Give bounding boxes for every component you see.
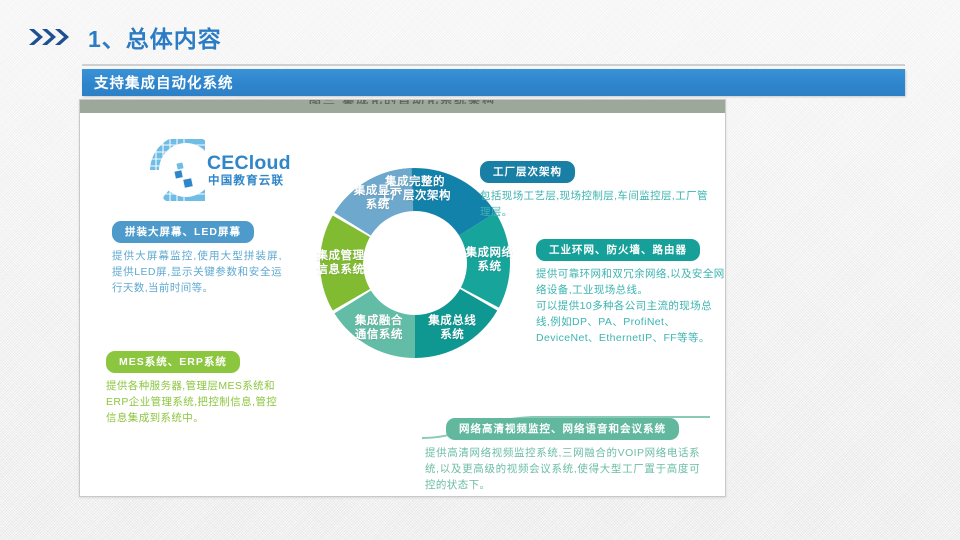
- callout-network-pill: 工业环网、防火墙、路由器: [536, 239, 700, 261]
- callout-video-body: 提供高清网络视频监控系统,三网融合的VOIP网络电话系统,以及更高级的视频会议系…: [425, 445, 700, 493]
- page-title: 1、总体内容: [28, 20, 222, 54]
- callout-network-body-1: 提供可靠环网和双冗余网络,以及安全网络设备,工业现场总线。: [536, 266, 726, 298]
- cecloud-logo: CECloud 中国教育云联: [115, 139, 290, 201]
- callout-network-body-2: 可以提供10多种各公司主流的现场总线,例如DP、PA、ProfiNet、Devi…: [536, 298, 726, 346]
- callout-display-body: 提供大屏幕监控,使用大型拼装屏,提供LED屏,显示关键参数和安全运行天数,当前时…: [112, 248, 282, 296]
- callout-video-pill: 网络高清视频监控、网络语音和会议系统: [446, 418, 679, 440]
- subtitle-bar-text: 支持集成自动化系统: [82, 72, 234, 93]
- figure-inner: CECloud 中国教育云联 集成完整的工厂层次架构集成网络系统集成总线系统集成…: [80, 113, 725, 496]
- callout-mes-erp: MES系统、ERP系统 提供各种服务器,管理层MES系统和ERP企业管理系统,把…: [106, 351, 284, 426]
- svg-text:CECloud: CECloud: [207, 152, 290, 174]
- callout-factory-pill: 工厂层次架构: [480, 161, 575, 183]
- callout-mes-pill: MES系统、ERP系统: [106, 351, 240, 373]
- title-divider-highlight: [82, 66, 905, 67]
- callout-factory-hierarchy: 工厂层次架构 包括现场工艺层,现场控制层,车间监控层,工厂管理层。: [480, 161, 710, 220]
- figure-clipped-caption: 图三 集成化的自动化系统架构: [80, 99, 725, 104]
- figure-top-strip: 图三 集成化的自动化系统架构: [80, 100, 725, 113]
- figure-card: 图三 集成化的自动化系统架构: [79, 99, 726, 497]
- callout-display-pill: 拼装大屏幕、LED屏幕: [112, 221, 254, 243]
- callout-factory-body: 包括现场工艺层,现场控制层,车间监控层,工厂管理层。: [480, 188, 710, 220]
- chevron-double-right-icon: [28, 27, 76, 47]
- section-title-text: 1、总体内容: [88, 20, 222, 54]
- callout-industrial-network: 工业环网、防火墙、路由器 提供可靠环网和双冗余网络,以及安全网络设备,工业现场总…: [536, 239, 726, 346]
- callout-video-voice: 网络高清视频监控、网络语音和会议系统 提供高清网络视频监控系统,三网融合的VOI…: [425, 418, 700, 493]
- callout-mes-body: 提供各种服务器,管理层MES系统和ERP企业管理系统,把控制信息,管控信息集成到…: [106, 378, 284, 426]
- subtitle-bar: 支持集成自动化系统: [82, 69, 905, 96]
- svg-text:中国教育云联: 中国教育云联: [208, 173, 284, 187]
- callout-display-system: 拼装大屏幕、LED屏幕 提供大屏幕监控,使用大型拼装屏,提供LED屏,显示关键参…: [112, 221, 282, 296]
